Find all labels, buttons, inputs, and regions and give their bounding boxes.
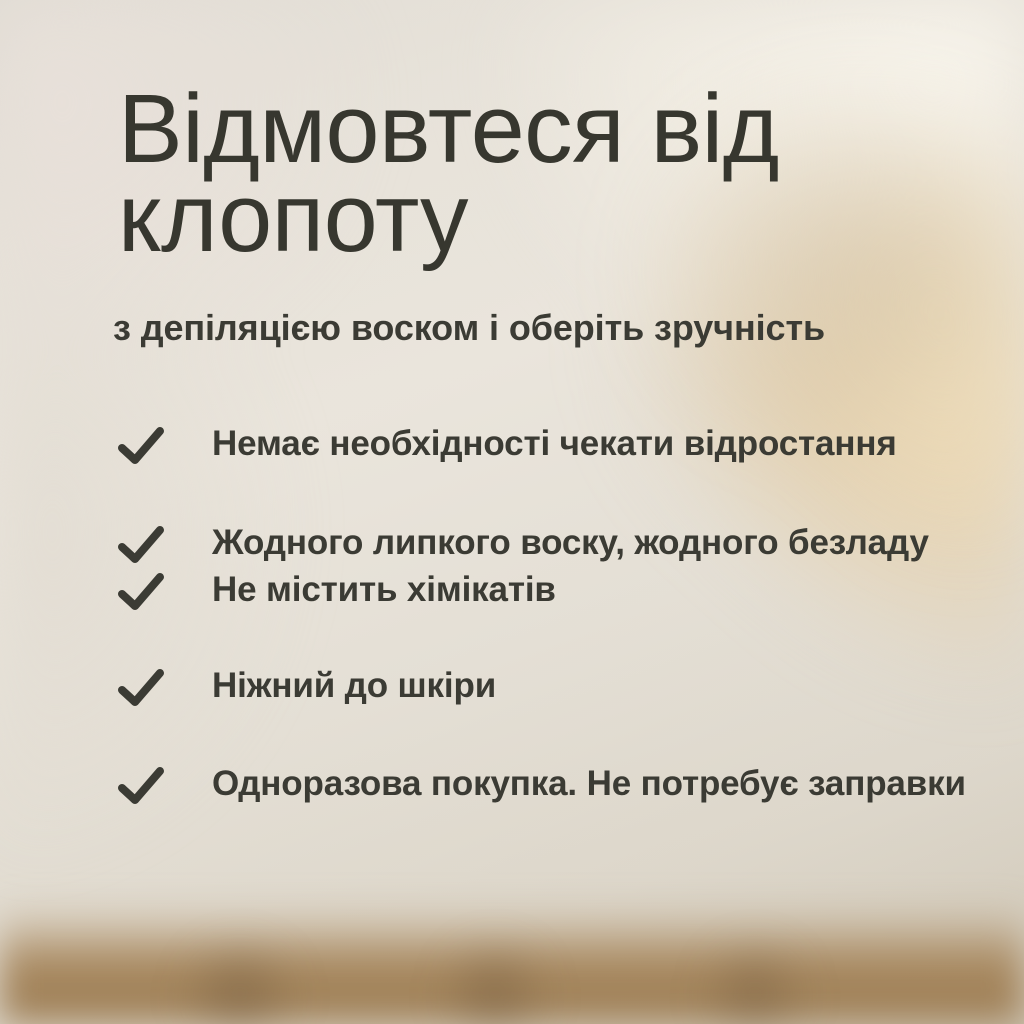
list-item: Немає необхідності чекати відростання <box>113 424 1003 464</box>
check-icon <box>118 766 164 806</box>
list-item: Жодного липкого воску, жодного безладу <box>113 523 1003 563</box>
list-item-label: Жодного липкого воску, жодного безладу <box>212 523 1003 563</box>
check-icon <box>118 668 164 708</box>
check-icon <box>118 572 164 612</box>
list-item-label: Не містить хімікатів <box>212 570 1003 610</box>
list-item-label: Одноразова покупка. Не потребує заправки <box>212 764 1003 804</box>
card-content: Відмовтеся від клопоту з депіляцією воск… <box>0 0 1024 1024</box>
page-title: Відмовтеся від клопоту <box>118 84 918 262</box>
check-icon <box>118 426 164 466</box>
subtitle: з депіляцією воском і оберіть зручність <box>113 307 973 348</box>
benefits-list: Немає необхідності чекати відростання Жо… <box>113 424 1003 803</box>
list-item: Ніжний до шкіри <box>113 666 1003 706</box>
list-item-label: Немає необхідності чекати відростання <box>212 424 1003 464</box>
check-icon <box>118 525 164 565</box>
list-item-label: Ніжний до шкіри <box>212 666 1003 706</box>
promo-card: Відмовтеся від клопоту з депіляцією воск… <box>0 0 1024 1024</box>
list-item: Одноразова покупка. Не потребує заправки <box>113 764 1003 804</box>
list-item: Не містить хімікатів <box>113 570 1003 610</box>
